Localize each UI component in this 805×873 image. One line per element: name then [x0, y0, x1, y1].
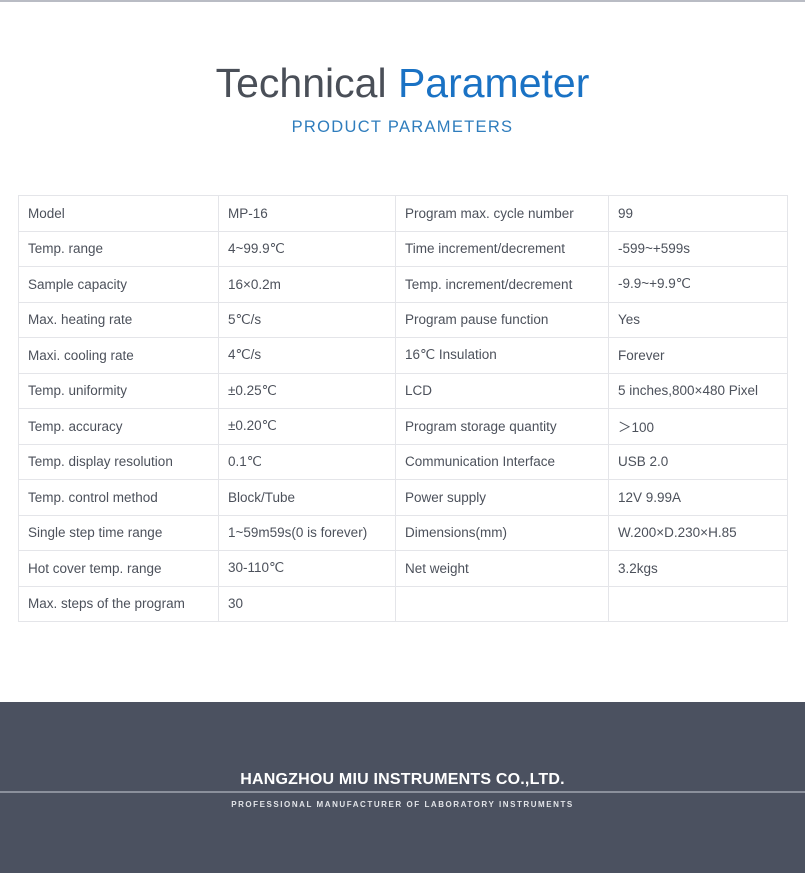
table-row: Hot cover temp. range30-110℃Net weight3.… [19, 551, 788, 587]
table-cell-empty [609, 586, 788, 622]
table-row: Temp. accuracy±0.20℃Program storage quan… [19, 409, 788, 445]
table-cell-label: Temp. uniformity [19, 373, 219, 409]
table-cell-label: Communication Interface [396, 444, 609, 480]
table-cell-value: 4℃/s [219, 338, 396, 374]
table-cell-label: Max. heating rate [19, 302, 219, 338]
footer-tagline: PROFESSIONAL MANUFACTURER OF LABORATORY … [0, 798, 805, 812]
table-cell-value: MP-16 [219, 196, 396, 232]
footer-company-name: HANGZHOU MIU INSTRUMENTS CO.,LTD. [0, 770, 805, 790]
page-title-primary: Technical [216, 60, 398, 106]
table-row: Temp. range4~99.9℃Time increment/decreme… [19, 231, 788, 267]
table-row: Single step time range1~59m59s(0 is fore… [19, 515, 788, 551]
table-row: Maxi. cooling rate4℃/s16℃ InsulationFore… [19, 338, 788, 374]
table-cell-label: Program max. cycle number [396, 196, 609, 232]
table-cell-value: 3.2kgs [609, 551, 788, 587]
table-cell-value: Yes [609, 302, 788, 338]
table-cell-label: Program storage quantity [396, 409, 609, 445]
table-cell-label: LCD [396, 373, 609, 409]
table-row: Temp. control methodBlock/TubePower supp… [19, 480, 788, 516]
table-row: Max. steps of the program30 [19, 586, 788, 622]
page-header: Technical Parameter PRODUCT PARAMETERS [0, 58, 805, 138]
table-cell-label: Single step time range [19, 515, 219, 551]
table-cell-value: ±0.20℃ [219, 409, 396, 445]
table-cell-label: Time increment/decrement [396, 231, 609, 267]
table-row: Sample capacity16×0.2mTemp. increment/de… [19, 267, 788, 303]
table-cell-value: W.200×D.230×H.85 [609, 515, 788, 551]
table-cell-value: 5℃/s [219, 302, 396, 338]
table-cell-value: USB 2.0 [609, 444, 788, 480]
specification-table: ModelMP-16Program max. cycle number99Tem… [18, 195, 788, 622]
table-cell-value: ±0.25℃ [219, 373, 396, 409]
footer-divider [0, 791, 805, 793]
table-cell-value: 99 [609, 196, 788, 232]
table-cell-label: Maxi. cooling rate [19, 338, 219, 374]
table-cell-value: 1~59m59s(0 is forever) [219, 515, 396, 551]
table-cell-value: 5 inches,800×480 Pixel [609, 373, 788, 409]
table-row: Temp. display resolution0.1℃Communicatio… [19, 444, 788, 480]
page-title: Technical Parameter [0, 58, 805, 108]
table-cell-value: 16×0.2m [219, 267, 396, 303]
product-parameter-page: Technical Parameter PRODUCT PARAMETERS M… [0, 0, 805, 873]
table-cell-value: Block/Tube [219, 480, 396, 516]
table-row: Max. heating rate5℃/sProgram pause funct… [19, 302, 788, 338]
table-cell-value: ＞100 [609, 409, 788, 445]
specification-table-body: ModelMP-16Program max. cycle number99Tem… [19, 196, 788, 622]
table-cell-label: Program pause function [396, 302, 609, 338]
table-cell-label: Hot cover temp. range [19, 551, 219, 587]
table-cell-value: 0.1℃ [219, 444, 396, 480]
table-cell-value: 12V 9.99A [609, 480, 788, 516]
table-cell-value: 4~99.9℃ [219, 231, 396, 267]
page-subtitle: PRODUCT PARAMETERS [0, 116, 805, 138]
table-cell-value: 30 [219, 586, 396, 622]
table-cell-label: Model [19, 196, 219, 232]
table-cell-label: Temp. increment/decrement [396, 267, 609, 303]
table-cell-label: Max. steps of the program [19, 586, 219, 622]
table-cell-label: Temp. control method [19, 480, 219, 516]
table-cell-label: Dimensions(mm) [396, 515, 609, 551]
table-cell-value: -599~+599s [609, 231, 788, 267]
table-row: ModelMP-16Program max. cycle number99 [19, 196, 788, 232]
table-cell-label: Temp. accuracy [19, 409, 219, 445]
table-cell-value: 30-110℃ [219, 551, 396, 587]
table-cell-label: Sample capacity [19, 267, 219, 303]
top-divider [0, 0, 805, 2]
table-cell-label: Temp. range [19, 231, 219, 267]
table-cell-empty [396, 586, 609, 622]
page-title-accent: Parameter [398, 60, 589, 106]
table-cell-label: 16℃ Insulation [396, 338, 609, 374]
table-cell-label: Net weight [396, 551, 609, 587]
table-cell-label: Power supply [396, 480, 609, 516]
table-cell-label: Temp. display resolution [19, 444, 219, 480]
page-footer: HANGZHOU MIU INSTRUMENTS CO.,LTD. PROFES… [0, 702, 805, 873]
table-cell-value: -9.9~+9.9℃ [609, 267, 788, 303]
table-cell-value: Forever [609, 338, 788, 374]
table-row: Temp. uniformity±0.25℃LCD5 inches,800×48… [19, 373, 788, 409]
